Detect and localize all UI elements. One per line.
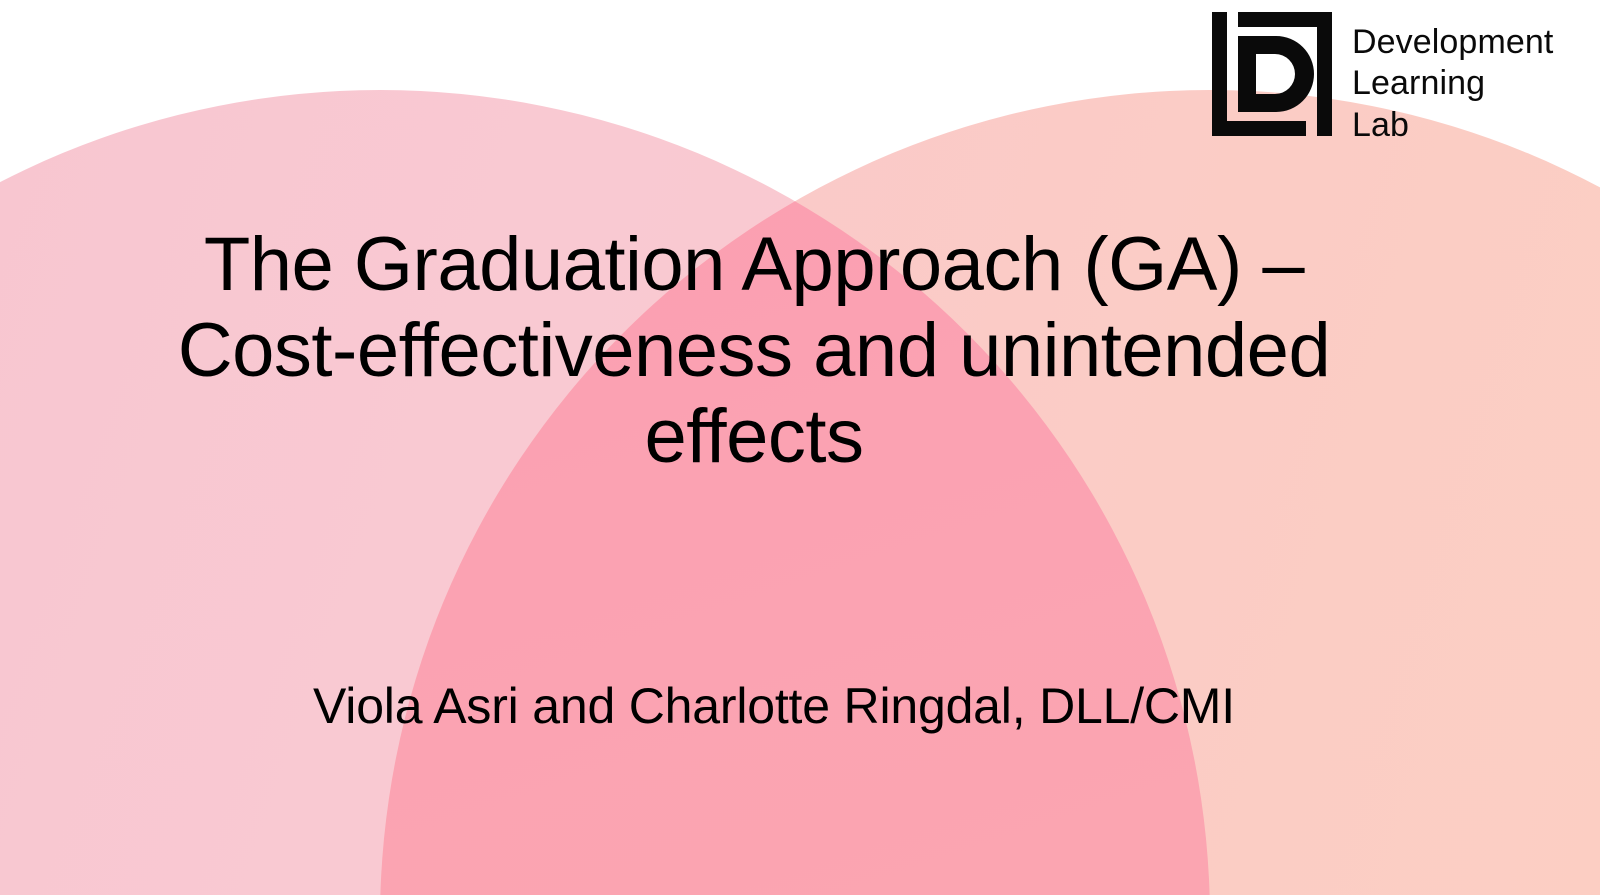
- slide-title: The Graduation Approach (GA) – Cost-effe…: [24, 222, 1484, 480]
- slide-authors: Viola Asri and Charlotte Ringdal, DLL/CM…: [24, 676, 1524, 736]
- title-slide: Development Learning Lab The Graduation …: [0, 0, 1600, 895]
- slide-title-line-1: The Graduation Approach (GA) –: [24, 222, 1484, 308]
- slide-title-line-2: Cost-effectiveness and unintended: [24, 308, 1484, 394]
- slide-title-line-3: effects: [24, 394, 1484, 480]
- slide-content: The Graduation Approach (GA) – Cost-effe…: [0, 0, 1600, 895]
